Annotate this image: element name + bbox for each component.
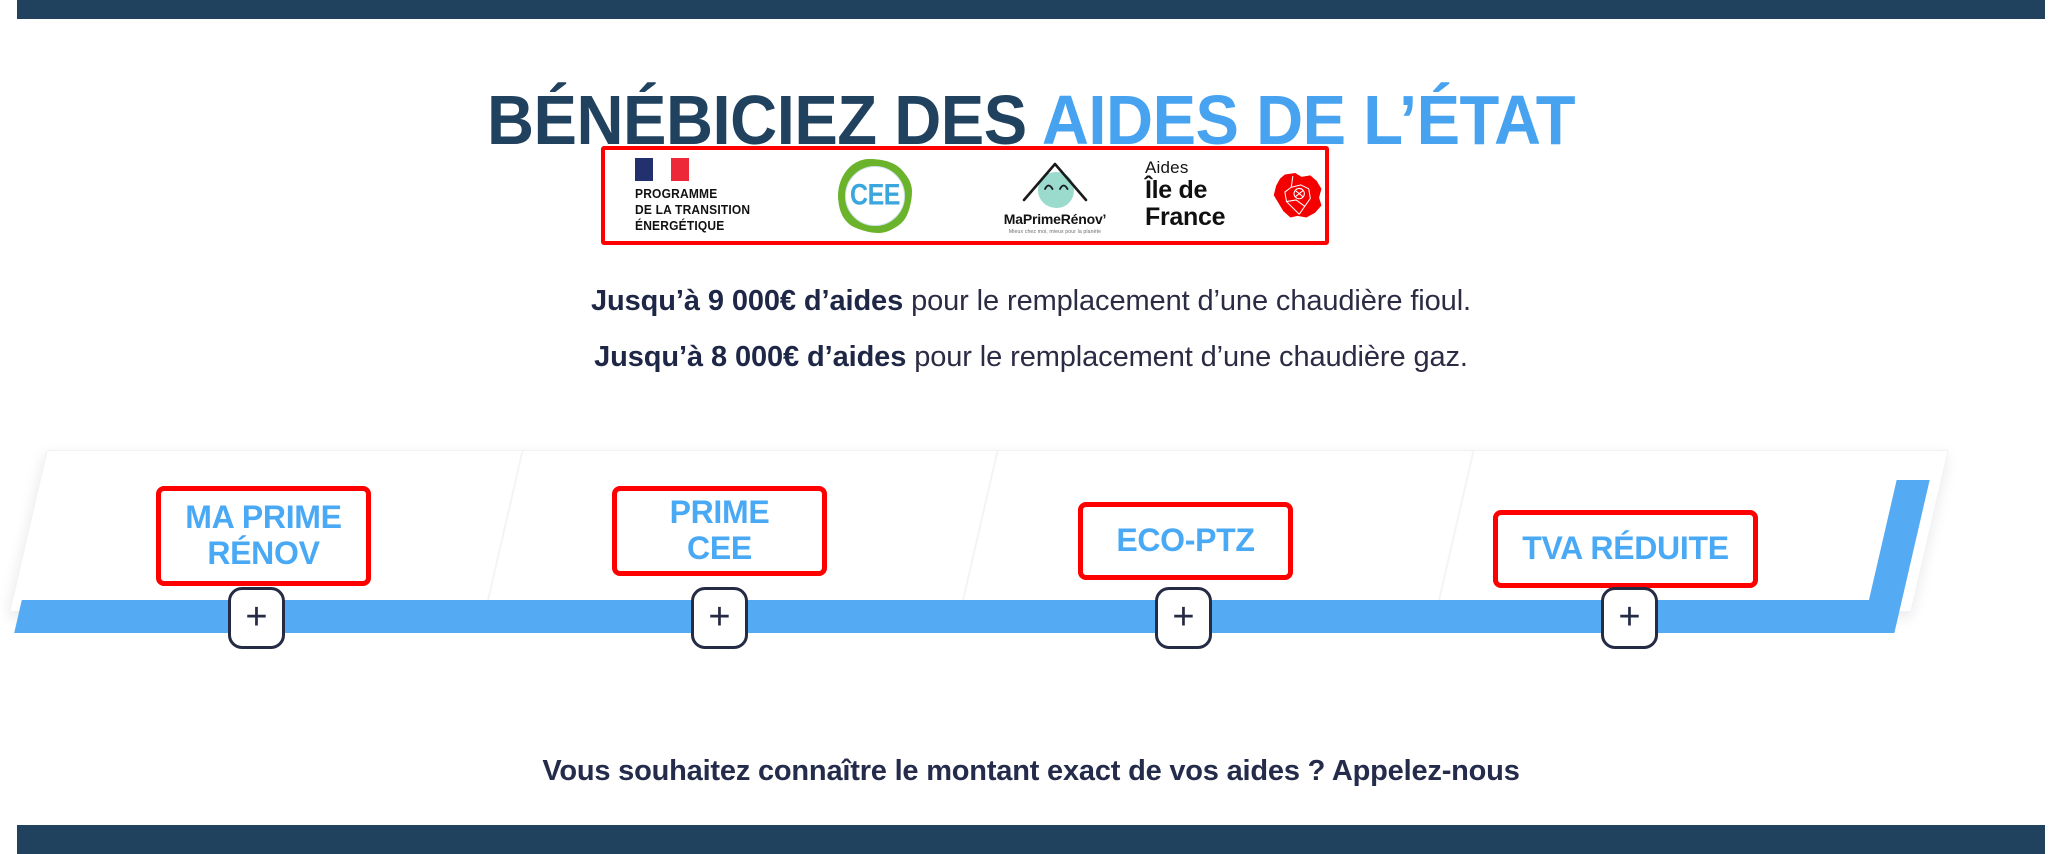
footer-call-to-action: Vous souhaitez connaître le montant exac… bbox=[0, 755, 2062, 788]
ile-de-france-map-icon bbox=[1269, 165, 1325, 227]
logo-cee: CEE bbox=[785, 150, 965, 241]
aid-tile-2-line2: CEE bbox=[670, 531, 770, 567]
aid-amount-line-gaz: Jusqu’à 8 000€ d’aides pour le remplacem… bbox=[0, 341, 2062, 374]
aid-amount-gaz-strong: Jusqu’à 8 000€ d’aides bbox=[594, 341, 906, 373]
top-divider-bar bbox=[17, 0, 2045, 19]
page-title: BÉNÉBICIEZ DES AIDES DE L’ÉTAT bbox=[72, 85, 1990, 155]
aid-tile-2-line1: PRIME bbox=[670, 495, 770, 531]
aid-tile-ma-prime-renov[interactable]: MA PRIME RÉNOV bbox=[156, 486, 371, 586]
french-flag-icon bbox=[635, 158, 691, 181]
aid-tile-3-line1: ECO-PTZ bbox=[1083, 523, 1288, 559]
aid-tile-prime-cee[interactable]: PRIME CEE bbox=[612, 486, 827, 576]
logo-idf-line2: Île de France bbox=[1145, 177, 1263, 232]
expand-button-prime-cee[interactable]: + bbox=[691, 587, 748, 649]
bottom-divider-bar bbox=[17, 825, 2045, 854]
cee-badge-icon: CEE bbox=[838, 159, 912, 233]
logo-cee-label: CEE bbox=[850, 178, 900, 212]
expand-button-ma-prime-renov[interactable]: + bbox=[228, 587, 285, 649]
logo-maprimerenov-title: MaPrimeRénov’ bbox=[1004, 211, 1106, 227]
logo-maprimerenov: MaPrimeRénov’ Mieux chez moi, mieux pour… bbox=[965, 150, 1145, 241]
aid-amount-fioul-rest: pour le remplacement d’une chaudière fio… bbox=[903, 285, 1471, 317]
logo-programme-line3: ÉNERGÉTIQUE bbox=[635, 218, 750, 234]
maprimerenov-house-icon bbox=[1012, 156, 1098, 208]
aid-tile-4-line1: TVA RÉDUITE bbox=[1498, 531, 1753, 567]
logo-programme-line1: PROGRAMME bbox=[635, 186, 750, 202]
aid-amount-gaz-rest: pour le remplacement d’une chaudière gaz… bbox=[906, 341, 1468, 373]
logo-aides-ile-de-france: Aides Île de France bbox=[1145, 150, 1325, 241]
certification-logo-strip: PROGRAMME DE LA TRANSITION ÉNERGÉTIQUE C… bbox=[601, 146, 1329, 245]
aids-ribbon: MA PRIME RÉNOV PRIME CEE ECO-PTZ TVA RÉD… bbox=[0, 450, 2062, 655]
logo-maprimerenov-tagline: Mieux chez moi, mieux pour la planète bbox=[1009, 229, 1101, 235]
expand-button-tva-reduite[interactable]: + bbox=[1601, 587, 1658, 649]
aid-amount-fioul-strong: Jusqu’à 9 000€ d’aides bbox=[591, 285, 903, 317]
aid-amount-line-fioul: Jusqu’à 9 000€ d’aides pour le remplacem… bbox=[0, 285, 2062, 318]
aid-tile-tva-reduite[interactable]: TVA RÉDUITE bbox=[1493, 510, 1758, 588]
logo-programme-transition-energetique: PROGRAMME DE LA TRANSITION ÉNERGÉTIQUE bbox=[605, 150, 785, 241]
aid-tile-1-line2: RÉNOV bbox=[185, 536, 341, 572]
logo-programme-line2: DE LA TRANSITION bbox=[635, 202, 750, 218]
aid-tile-1-line1: MA PRIME bbox=[185, 500, 341, 536]
aid-tile-eco-ptz[interactable]: ECO-PTZ bbox=[1078, 502, 1293, 580]
expand-button-eco-ptz[interactable]: + bbox=[1155, 587, 1212, 649]
logo-idf-line1: Aides bbox=[1145, 159, 1263, 177]
